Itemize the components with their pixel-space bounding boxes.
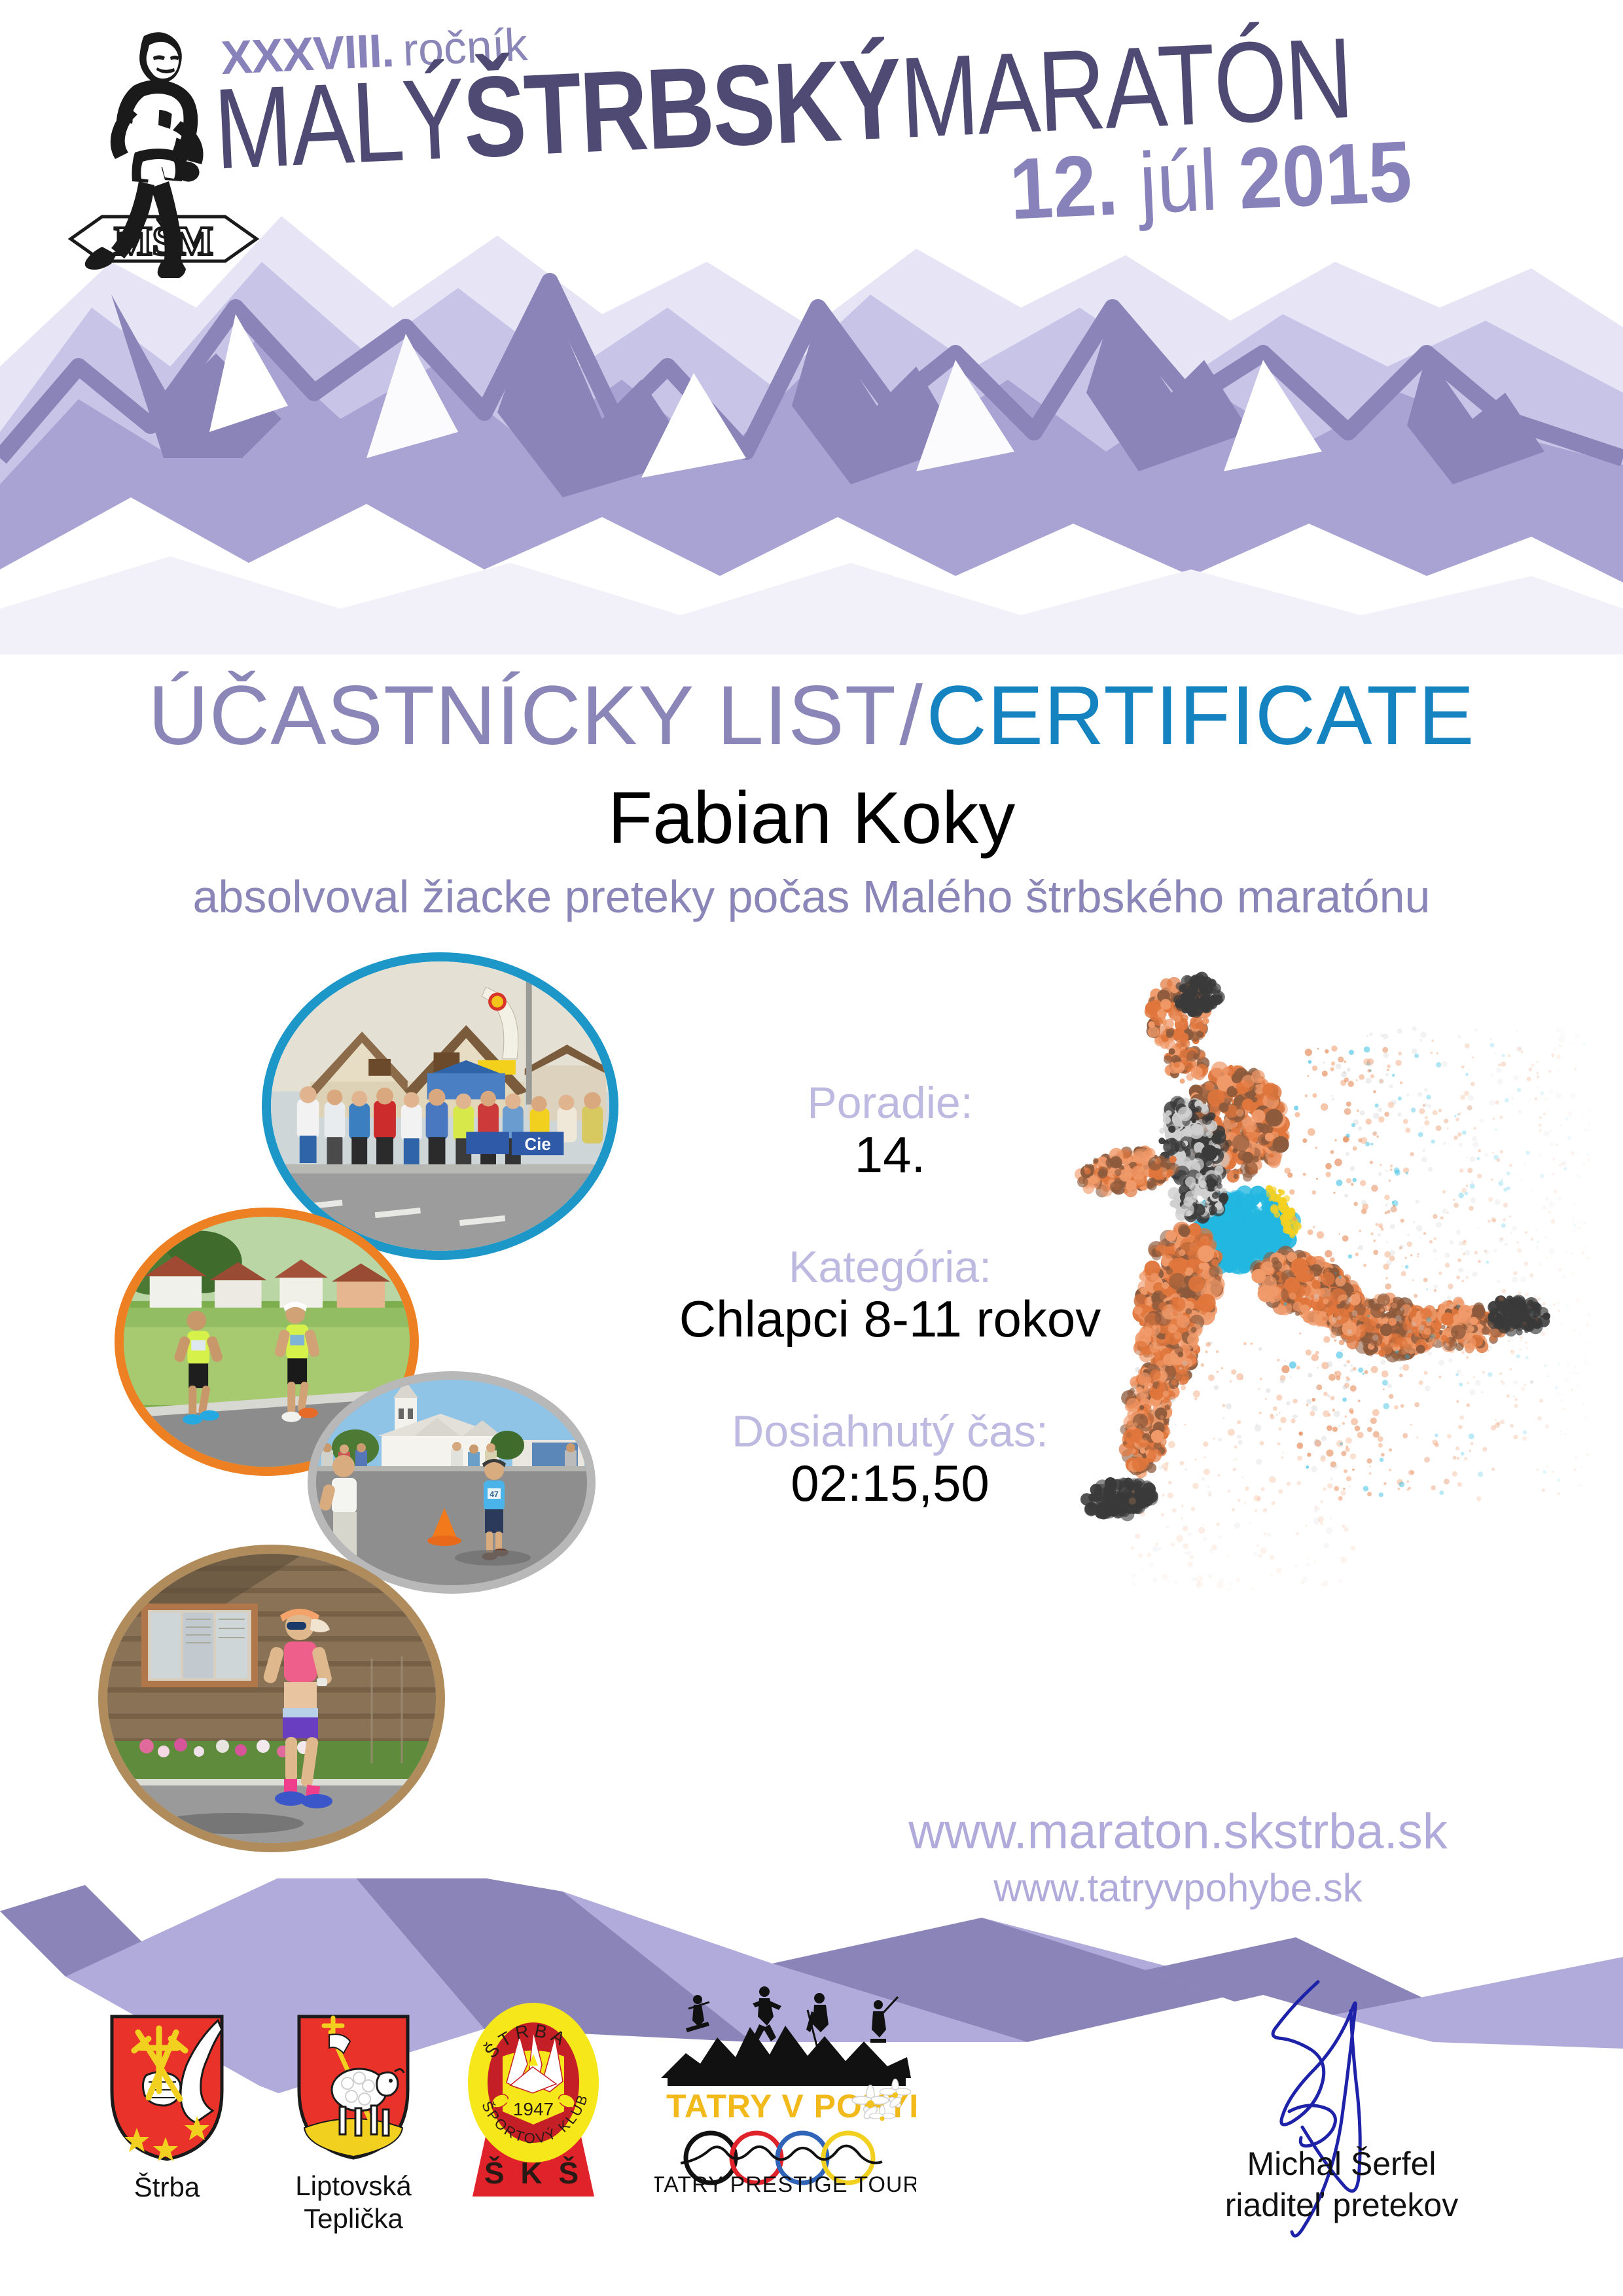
title-part-strbsky: ŠTRBSKÝ — [461, 35, 904, 182]
date-day: 12. — [1008, 136, 1120, 237]
certificate-title: ÚČASTNÍCKY LIST / CERTIFICATE — [0, 668, 1623, 764]
tatry-v-pohybe-logo-icon: TATRY V POHYBE — [654, 1980, 916, 2196]
photo-start-line-crowd: Cie — [262, 952, 618, 1260]
url-primary[interactable]: www.maraton.skstrba.sk — [772, 1803, 1584, 1860]
title-part-maly: MALÝ — [211, 55, 466, 194]
svg-text:Cie: Cie — [525, 1136, 551, 1154]
svg-text:47: 47 — [490, 1490, 499, 1499]
tatry-main-label: TATRY V POHYBE — [666, 2088, 916, 2125]
sks-initials-label: Š K Š — [484, 2156, 582, 2190]
header-mountain-banner: MŠM XXXVIII.ročník MALÝŠTRBSKÝMARATÓN 12… — [0, 0, 1623, 655]
participant-name: Fabian Koky — [0, 776, 1623, 860]
photo-woman-runner-cabin — [98, 1545, 445, 1852]
signature-block: Michal Šerfel riaditeľ pretekov — [1113, 1977, 1571, 2225]
sks-year-label: 1947 — [513, 2099, 554, 2119]
tatry-prestige-label: TATRY PRESTIGE TOUR — [654, 2172, 916, 2196]
particle-runner-graphic — [1001, 949, 1590, 1702]
signature-role: riaditeľ pretekov — [1113, 2185, 1571, 2226]
certificate-title-en: CERTIFICATE — [926, 669, 1474, 762]
sks-club-logo-icon: 1947 ŠTRBA ŠPORTOVÝ KLUB Š K Š — [465, 1996, 602, 2199]
signature-name: Michal Šerfel — [1113, 2144, 1571, 2185]
certificate-title-sk: ÚČASTNÍCKY LIST — [148, 669, 897, 762]
sponsor-sks-club: 1947 ŠTRBA ŠPORTOVÝ KLUB Š K Š — [452, 1996, 615, 2199]
strba-coat-of-arms-icon — [108, 2013, 226, 2163]
sponsor-caption-liptovska-l1: Liptovská — [262, 2170, 445, 2202]
certificate-title-separator: / — [899, 669, 923, 762]
liptovska-teplicka-coat-of-arms-icon — [295, 2013, 412, 2162]
date-month: júl — [1137, 132, 1219, 231]
sponsor-liptovska-teplicka: Liptovská Teplička — [262, 2013, 445, 2234]
participant-subtitle: absolvoval žiacke preteky počas Malého š… — [0, 870, 1623, 923]
sponsor-strba: Štrba — [85, 2013, 249, 2204]
date-year: 2015 — [1236, 123, 1414, 227]
sponsor-tatry-v-pohybe: TATRY V POHYBE — [641, 1980, 929, 2196]
sponsor-caption-liptovska-l2: Teplička — [262, 2202, 445, 2235]
event-date: 12. júl 2015 — [1008, 122, 1414, 239]
sponsor-caption-strba: Štrba — [85, 2171, 249, 2204]
